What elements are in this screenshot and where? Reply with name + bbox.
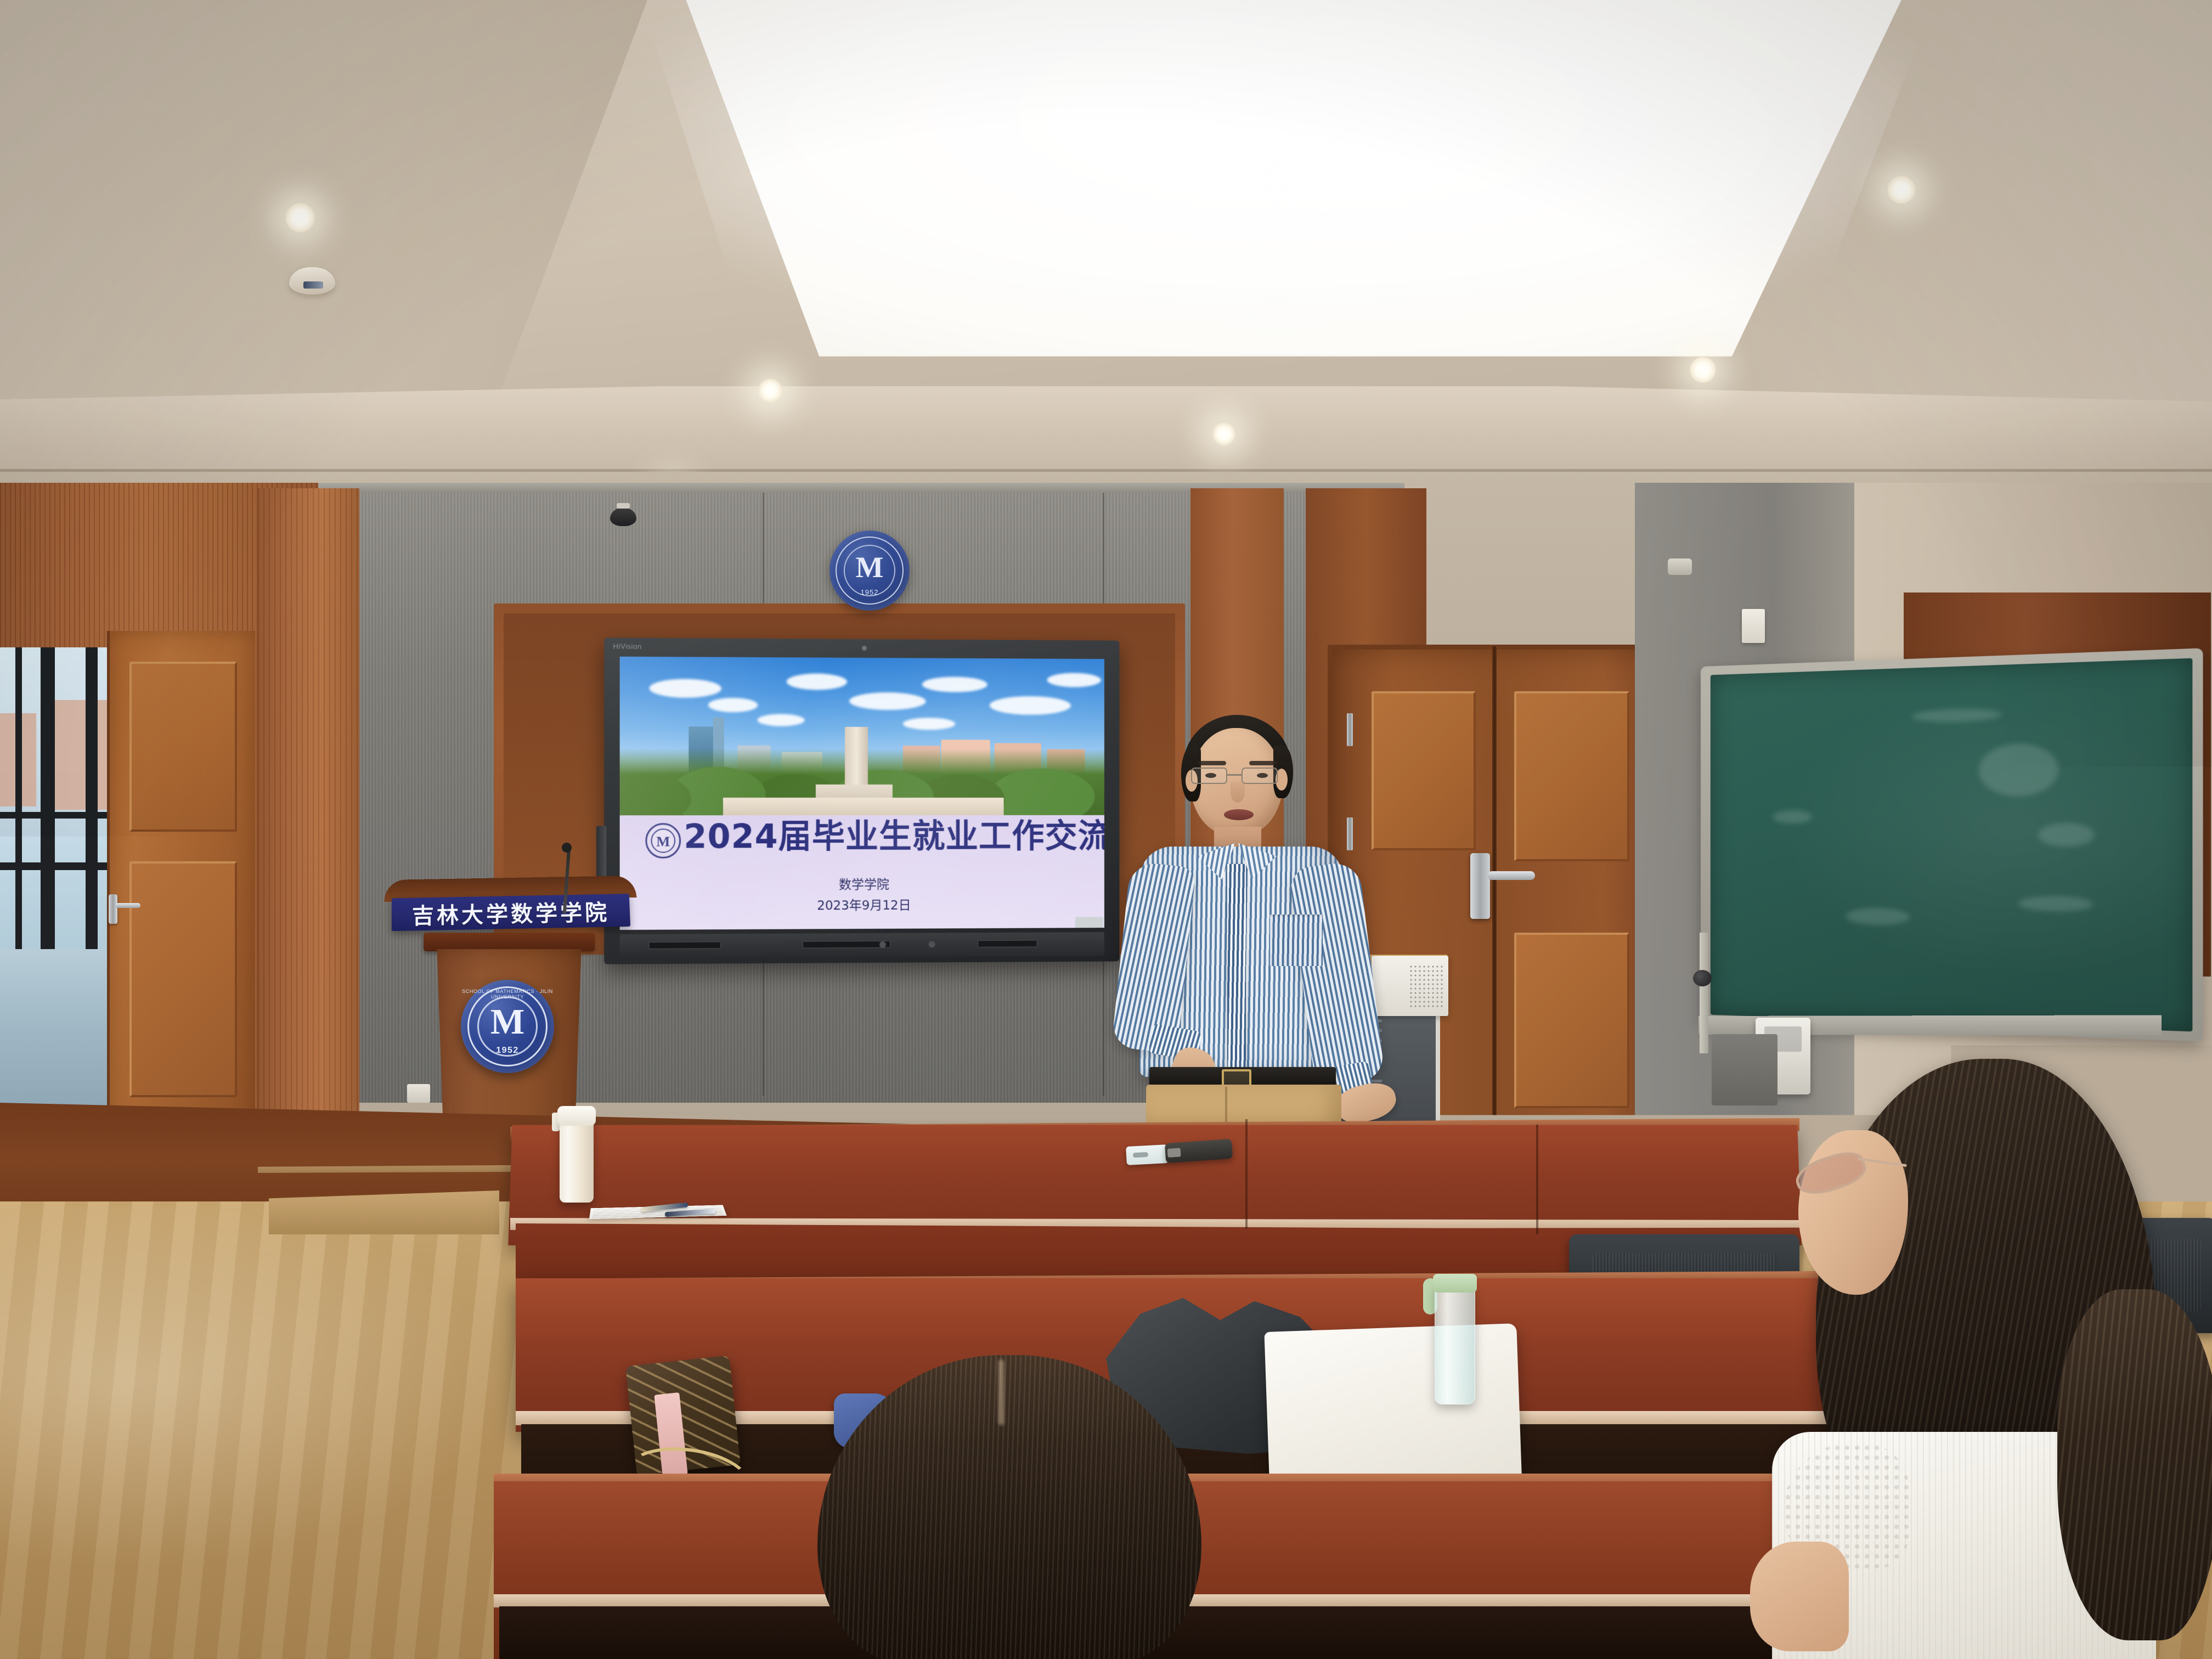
emblem-letter: M bbox=[461, 1004, 554, 1040]
slide-title: 2024届毕业生就业工作交流会 bbox=[684, 820, 1094, 855]
chalk-smudge bbox=[2018, 895, 2093, 911]
wall-emblem-logo: M 1952 bbox=[830, 531, 910, 611]
presenter-shirt-placket bbox=[1227, 864, 1246, 1068]
presenter-nose bbox=[1231, 782, 1245, 803]
audience-pink-garment bbox=[1728, 1580, 1821, 1659]
display-side-nub bbox=[596, 826, 606, 877]
audience-hair-front bbox=[2057, 1289, 2212, 1640]
display-port[interactable] bbox=[803, 941, 890, 949]
thermos-cap[interactable] bbox=[557, 1106, 596, 1126]
display-brand-label: HiVision bbox=[613, 642, 641, 650]
venue-name-sign: 吉林大学数学学院 bbox=[392, 894, 630, 931]
corridor-mullion bbox=[41, 647, 55, 955]
emblem-year: 1952 bbox=[461, 1046, 554, 1056]
slide-text-block: 2024届毕业生就业工作交流会 数学学院 2023年9月12日 bbox=[620, 815, 1104, 930]
corridor-mullion bbox=[15, 647, 22, 955]
desk-seam bbox=[1245, 1119, 1248, 1229]
door-lock-icon[interactable] bbox=[1470, 853, 1490, 919]
lecture-hall-photo: M 1952 HiVision bbox=[0, 0, 2212, 1659]
downlight-icon bbox=[1887, 176, 1916, 204]
emblem-outer-text: SCHOOL OF MATHEMATICS · JILIN UNIVERSITY bbox=[461, 989, 554, 1000]
audience-hair bbox=[817, 1355, 1201, 1659]
glasses-bridge bbox=[1227, 774, 1242, 776]
podium-top bbox=[424, 933, 595, 951]
door-panel bbox=[1514, 691, 1629, 861]
display-screen[interactable]: 2024届毕业生就业工作交流会 数学学院 2023年9月12日 bbox=[620, 657, 1104, 930]
display-menu-button[interactable] bbox=[929, 941, 935, 947]
slide-department: 数学学院 bbox=[620, 873, 1104, 894]
door-handle-icon[interactable] bbox=[109, 894, 117, 924]
audience-member-center bbox=[817, 1355, 1234, 1659]
chalk-smudge bbox=[1773, 810, 1812, 824]
corridor-rail bbox=[0, 812, 110, 819]
cloud-shape bbox=[708, 698, 758, 712]
glasses-lens bbox=[1191, 768, 1227, 784]
corridor-rail bbox=[0, 862, 110, 870]
white-smartphone[interactable] bbox=[1126, 1144, 1169, 1165]
campus-plaza-roof bbox=[723, 798, 1004, 815]
display-power-button[interactable] bbox=[879, 941, 886, 948]
slide-date: 2023年9月12日 bbox=[620, 894, 1104, 914]
display-bottom-bar bbox=[620, 932, 1104, 958]
smart-display[interactable]: HiVision bbox=[604, 637, 1119, 964]
chalk-smudge bbox=[2038, 823, 2095, 847]
slide-campus-photo bbox=[620, 657, 1104, 815]
wood-pillar-left bbox=[258, 488, 359, 1141]
display-camera-icon bbox=[862, 646, 867, 651]
presenter-eyebrow bbox=[1249, 761, 1278, 765]
chalk-smudge bbox=[1846, 908, 1910, 926]
presenter-mouth bbox=[1224, 809, 1254, 820]
cloud-shape bbox=[990, 696, 1071, 715]
chalkboard-slide-rail bbox=[1700, 933, 1708, 1053]
chalkboard bbox=[1701, 648, 2203, 1041]
microphone-icon bbox=[562, 843, 572, 853]
downlight-icon bbox=[1690, 357, 1716, 383]
cloud-shape bbox=[649, 679, 721, 698]
downlight-icon bbox=[1212, 422, 1235, 445]
display-port[interactable] bbox=[978, 940, 1037, 947]
cloud-shape bbox=[1047, 673, 1101, 687]
smoke-detector-icon bbox=[289, 267, 335, 295]
downlight-icon bbox=[758, 379, 782, 403]
cloud-shape bbox=[757, 714, 804, 726]
desk-seam bbox=[1536, 1125, 1538, 1234]
door-left-open[interactable] bbox=[107, 631, 255, 1141]
presenter bbox=[1089, 699, 1429, 1160]
power-socket-icon[interactable] bbox=[407, 1084, 430, 1103]
cloud-shape bbox=[922, 677, 988, 692]
chalkboard-knob-icon[interactable] bbox=[1693, 970, 1712, 986]
audience-member-bottom-right bbox=[1404, 1278, 1898, 1659]
cloud-shape bbox=[786, 673, 847, 690]
presenter-eyebrow bbox=[1198, 761, 1226, 765]
emblem-letter: M bbox=[830, 552, 910, 582]
downlight-icon bbox=[285, 203, 315, 233]
door-panel bbox=[1514, 933, 1629, 1108]
emblem-year: 1952 bbox=[830, 588, 910, 596]
cloud-shape bbox=[903, 718, 955, 730]
door-panel bbox=[129, 861, 237, 1097]
door-lever-handle[interactable] bbox=[1488, 871, 1535, 880]
presenter-shirt-pocket bbox=[1270, 915, 1323, 966]
audience-hair-part bbox=[998, 1359, 1004, 1425]
slide-seal-icon bbox=[645, 823, 681, 859]
corridor-floor bbox=[0, 949, 110, 1130]
door-panel bbox=[129, 662, 237, 832]
campus-monument bbox=[845, 727, 868, 793]
display-port[interactable] bbox=[648, 941, 721, 949]
venue-name-text: 吉林大学数学学院 bbox=[412, 895, 610, 930]
thermos-flask[interactable] bbox=[560, 1114, 594, 1203]
ceiling-camera-icon bbox=[610, 507, 636, 526]
corridor-view bbox=[0, 647, 110, 1130]
ceiling-light-glow bbox=[603, 0, 1948, 384]
right-camera-icon bbox=[1668, 558, 1692, 575]
cloud-shape bbox=[849, 692, 926, 710]
chalkboard-surface bbox=[1711, 658, 2193, 1032]
podium-emblem-logo: SCHOOL OF MATHEMATICS · JILIN UNIVERSITY… bbox=[461, 980, 554, 1073]
wall-control-box[interactable] bbox=[1742, 609, 1765, 643]
glasses-lens bbox=[1242, 768, 1278, 784]
chalk-smudge bbox=[1979, 743, 2059, 797]
corridor-building bbox=[53, 700, 110, 810]
door-split-line bbox=[1492, 646, 1497, 1148]
chalk-smudge bbox=[1911, 708, 2001, 723]
corridor-mullion bbox=[86, 647, 98, 955]
